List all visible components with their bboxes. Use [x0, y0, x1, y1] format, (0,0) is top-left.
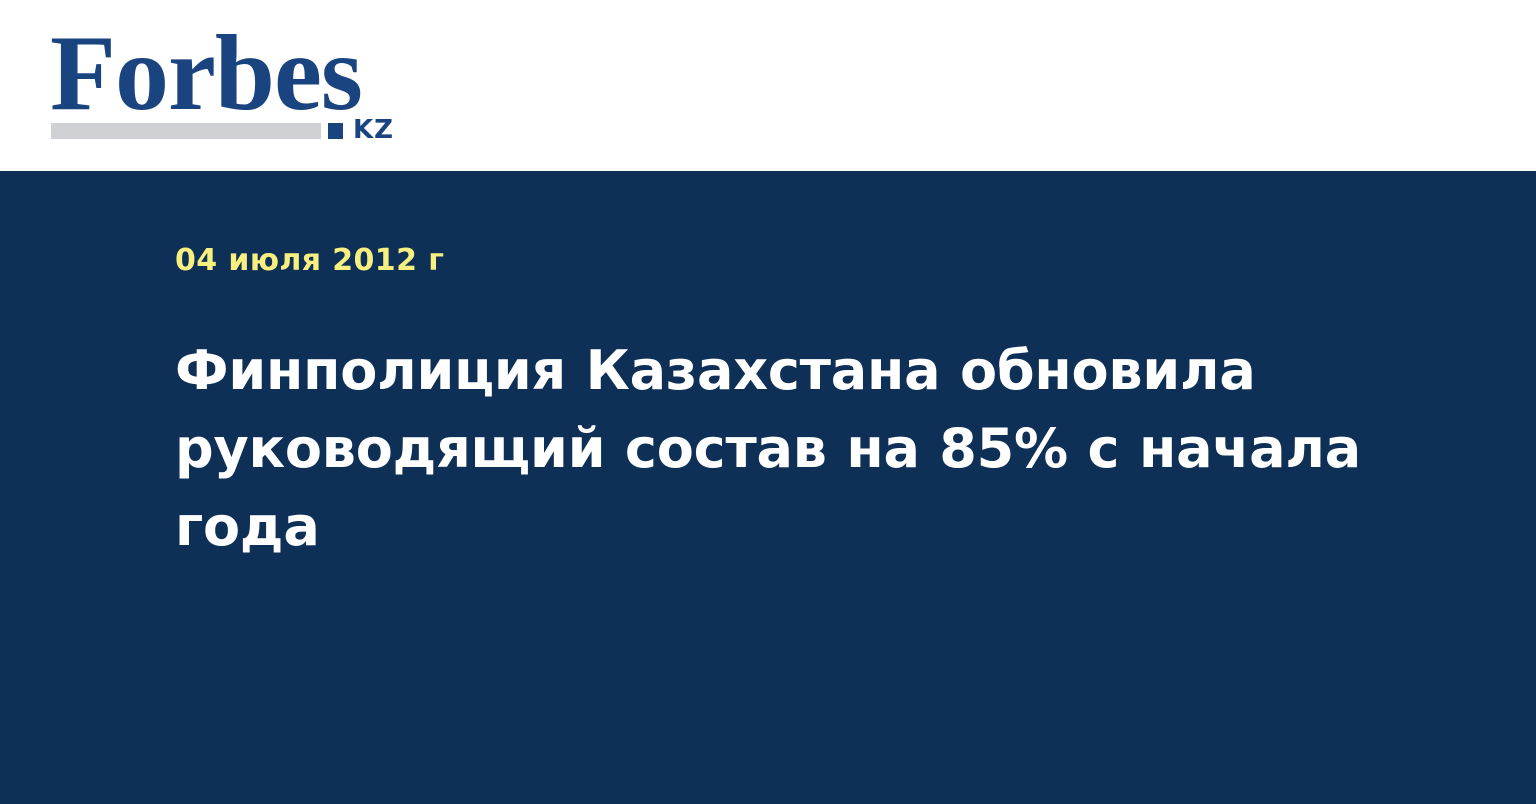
article-date: 04 июля 2012 г [175, 171, 1375, 278]
forbes-kz-logo[interactable]: Forbes kz [50, 20, 430, 145]
logo-rule-bar [51, 123, 321, 139]
article-cover-page: Forbes kz 04 июля 2012 г Финполиция Каза… [0, 0, 1536, 804]
article-cover: 04 июля 2012 г Финполиция Казахстана обн… [0, 171, 1536, 804]
cover-content: 04 июля 2012 г Финполиция Казахстана обн… [175, 171, 1375, 566]
forbes-wordmark: Forbes [50, 20, 362, 128]
site-header: Forbes kz [0, 0, 1536, 171]
logo-tld-label: kz [353, 117, 394, 143]
article-headline: Финполиция Казахстана обновила руководящ… [175, 278, 1365, 566]
logo-square-icon [328, 123, 343, 139]
